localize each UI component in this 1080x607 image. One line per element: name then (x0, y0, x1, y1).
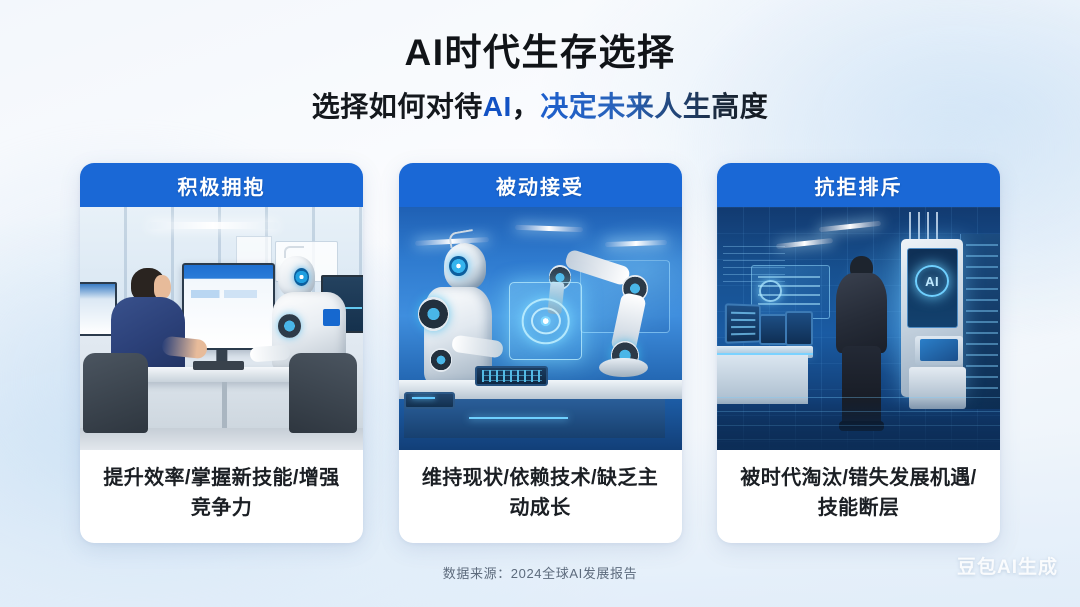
office-chair-left (83, 353, 148, 433)
card-caption-reject: 被时代淘汰/错失发展机遇/技能断层 (717, 450, 1000, 543)
illustration-robot-arm-hologram (399, 207, 682, 450)
option-card-reject[interactable]: 抗拒排斥 AI (717, 163, 1000, 543)
desk-tablet-display (475, 366, 549, 385)
robotic-arm-base (599, 358, 647, 377)
kiosk-touch-panel (915, 336, 963, 365)
slide-canvas: AI时代生存选择 选择如何对待AI，决定未来人生高度 积极拥抱 (0, 0, 1080, 607)
robot-arm (249, 344, 290, 361)
robot-chest-logo (323, 309, 340, 326)
subtitle-segment-highlight: 决定未来人生高度 (540, 91, 768, 122)
ceiling-light (148, 222, 278, 229)
card-header-embrace: 积极拥抱 (80, 163, 363, 207)
person-face (154, 275, 171, 299)
server-rack (960, 234, 1000, 409)
illustration-man-facing-ai-kiosk: AI (717, 207, 1000, 450)
subtitle-segment-comma: ， (512, 91, 541, 122)
illustration-office-human-robot (80, 207, 363, 450)
robot-eye (294, 268, 310, 286)
laptop-3 (785, 311, 813, 345)
robot-eye (449, 256, 467, 277)
option-card-embrace[interactable]: 积极拥抱 (80, 163, 363, 543)
hud-circle-icon (759, 280, 782, 302)
watermark-label: 豆包AI生成 (957, 552, 1058, 579)
ai-logo-badge: AI (915, 265, 949, 297)
card-caption-passive: 维持现状/依赖技术/缺乏主动成长 (399, 450, 682, 543)
data-source-note: 数据来源：2024全球AI发展报告 (0, 563, 1080, 582)
slide-header: AI时代生存选择 选择如何对待AI，决定未来人生高度 (0, 30, 1080, 126)
desk-tablet-small (404, 392, 455, 409)
hologram-core (540, 316, 551, 326)
floor-light-lines (717, 397, 1000, 450)
subtitle-segment-dark: 选择如何对待 (312, 91, 483, 122)
hologram-panel (509, 282, 583, 360)
card-row: 积极拥抱 (80, 163, 1000, 543)
card-image-reject: AI (717, 207, 1000, 450)
card-image-passive (399, 207, 682, 450)
card-header-passive: 被动接受 (399, 163, 682, 207)
page-subtitle: 选择如何对待AI，决定未来人生高度 (0, 89, 1080, 125)
option-card-passive[interactable]: 被动接受 (399, 163, 682, 543)
office-chair-right (289, 353, 357, 433)
subtitle-segment-ai: AI (483, 91, 512, 122)
card-header-reject: 抗拒排斥 (717, 163, 1000, 207)
robot-shoulder-joint (278, 314, 301, 338)
laptop-1 (725, 303, 761, 343)
keyboard (193, 361, 244, 370)
card-caption-embrace: 提升效率/掌握新技能/增强竞争力 (80, 450, 363, 543)
person-suit-torso (836, 273, 887, 353)
page-title: AI时代生存选择 (0, 30, 1080, 76)
main-monitor (182, 263, 275, 350)
card-image-embrace (80, 207, 363, 450)
